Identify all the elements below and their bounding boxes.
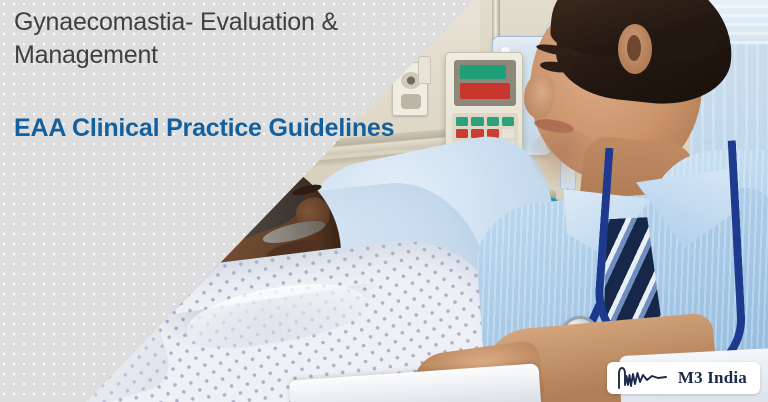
pump-key [502, 129, 514, 138]
pump-key [456, 117, 468, 126]
brand-logo-text: M3 India [678, 368, 747, 388]
pump-display-red-row [460, 83, 510, 99]
doctor-nose [524, 74, 554, 118]
pump-display-green-row [460, 65, 506, 79]
banner-text-block: Gynaecomastia- Evaluation & Management E… [14, 0, 444, 146]
brand-logo[interactable]: M3 India [607, 362, 760, 394]
page-title: Gynaecomastia- Evaluation & Management [14, 6, 444, 72]
pump-key [471, 117, 483, 126]
waveform-ecg-icon [616, 367, 670, 389]
page-subtitle: EAA Clinical Practice Guidelines [14, 112, 444, 146]
pump-display [454, 60, 516, 106]
pump-key [456, 129, 468, 138]
banner: Gynaecomastia- Evaluation & Management E… [0, 0, 768, 402]
pump-key [502, 117, 514, 126]
doctor-ear [618, 24, 652, 74]
pump-key [487, 117, 499, 126]
